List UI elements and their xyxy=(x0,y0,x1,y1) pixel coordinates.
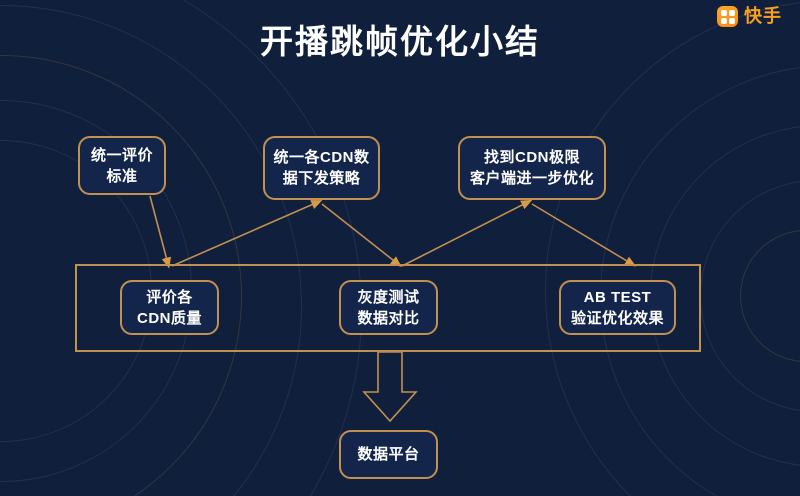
decor-ring-right-2 xyxy=(700,180,800,412)
arrow-cdn-policy-to-group xyxy=(322,204,398,264)
slide-canvas: 开播跳帧优化小结 快手 统一评价 标准 统一各CDN数 据下发策略 找到CDN极… xyxy=(0,0,800,496)
arrow-group-to-cdn-limit xyxy=(402,202,528,266)
node-cdn-limit[interactable]: 找到CDN极限 客户端进一步优化 xyxy=(458,136,606,200)
page-title: 开播跳帧优化小结 xyxy=(0,20,800,64)
decor-ring-left-5 xyxy=(0,0,362,496)
node-gray-test[interactable]: 灰度测试 数据对比 xyxy=(339,280,438,335)
brand-name: 快手 xyxy=(744,6,782,27)
decor-ring-right-5 xyxy=(545,0,800,496)
arrow-group-to-cdn-policy xyxy=(172,202,318,266)
block-arrow-to-data-platform xyxy=(364,352,416,421)
decor-ring-left-4 xyxy=(0,5,302,496)
node-evaluate-cdn[interactable]: 评价各 CDN质量 xyxy=(120,280,219,335)
background-decoration xyxy=(0,0,800,496)
decor-ring-right-1 xyxy=(740,230,800,362)
arrow-standard-to-group xyxy=(150,196,168,264)
kuaishou-logo-icon xyxy=(717,6,738,27)
brand-logo: 快手 xyxy=(717,6,782,27)
node-unified-cdn-policy[interactable]: 统一各CDN数 据下发策略 xyxy=(263,136,380,200)
node-ab-test[interactable]: AB TEST 验证优化效果 xyxy=(559,280,676,335)
node-unified-standard[interactable]: 统一评价 标准 xyxy=(78,136,166,195)
connector-arrows xyxy=(0,0,800,496)
node-data-platform[interactable]: 数据平台 xyxy=(339,430,438,479)
arrow-cdn-limit-to-group xyxy=(532,204,632,264)
